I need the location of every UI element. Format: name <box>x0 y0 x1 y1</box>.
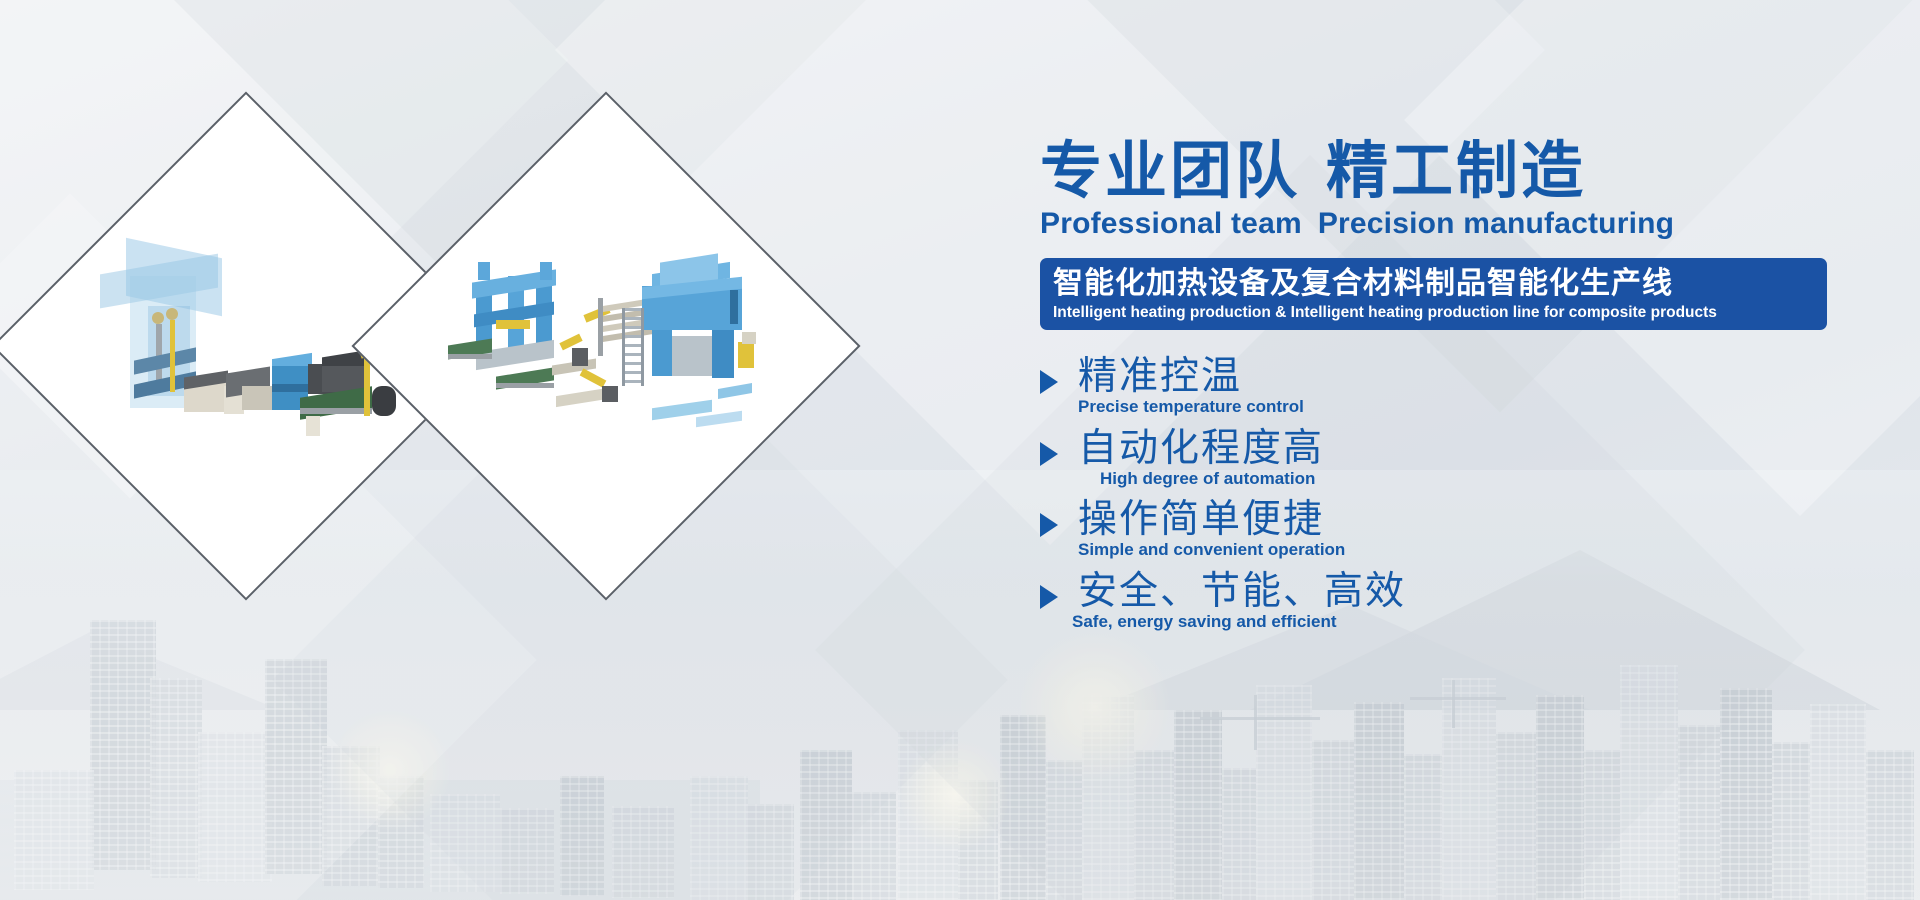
page-title: 专业团队精工制造 <box>1040 140 1880 203</box>
feature-label-cn: 安全、节能、高效 <box>1078 571 1406 613</box>
product-title-banner: 智能化加热设备及复合材料制品智能化生产线 Intelligent heating… <box>1040 258 1827 330</box>
feature-label-en: Precise temperature control <box>1078 397 1304 417</box>
banner-stage: 专业团队精工制造 Professional teamPrecision manu… <box>0 0 1920 900</box>
feature-list: 精准控温 Precise temperature control 自动化程度高 … <box>1040 356 1880 632</box>
production-line-diagram-2 <box>456 246 756 446</box>
triangle-right-icon <box>1040 442 1058 466</box>
headline-en-part2: Precision manufacturing <box>1318 207 1674 240</box>
feature-label-en: Simple and convenient operation <box>1078 540 1345 560</box>
feature-label-en: High degree of automation <box>1100 469 1324 489</box>
headline-cn-part1: 专业团队 <box>1040 137 1300 206</box>
feature-item-precise-temperature-control: 精准控温 Precise temperature control <box>1040 356 1880 418</box>
feature-label-cn: 自动化程度高 <box>1078 428 1324 470</box>
feature-label-en: Safe, energy saving and efficient <box>1072 612 1406 632</box>
page-subtitle: Professional teamPrecision manufacturing <box>1040 207 1880 241</box>
content-column: 专业团队精工制造 Professional teamPrecision manu… <box>1040 140 1880 642</box>
feature-label-cn: 精准控温 <box>1078 356 1304 398</box>
triangle-right-icon <box>1040 585 1058 609</box>
feature-item-high-automation: 自动化程度高 High degree of automation <box>1040 428 1880 490</box>
headline-en-part1: Professional team <box>1040 207 1302 240</box>
feature-item-safe-energy-efficient: 安全、节能、高效 Safe, energy saving and efficie… <box>1040 571 1880 633</box>
triangle-right-icon <box>1040 513 1058 537</box>
feature-label-cn: 操作简单便捷 <box>1078 499 1345 541</box>
triangle-right-icon <box>1040 370 1058 394</box>
product-title-en: Intelligent heating production & Intelli… <box>1053 303 1814 322</box>
product-title-cn: 智能化加热设备及复合材料制品智能化生产线 <box>1053 267 1814 301</box>
feature-item-simple-operation: 操作简单便捷 Simple and convenient operation <box>1040 499 1880 561</box>
headline-cn-part2: 精工制造 <box>1326 137 1586 206</box>
